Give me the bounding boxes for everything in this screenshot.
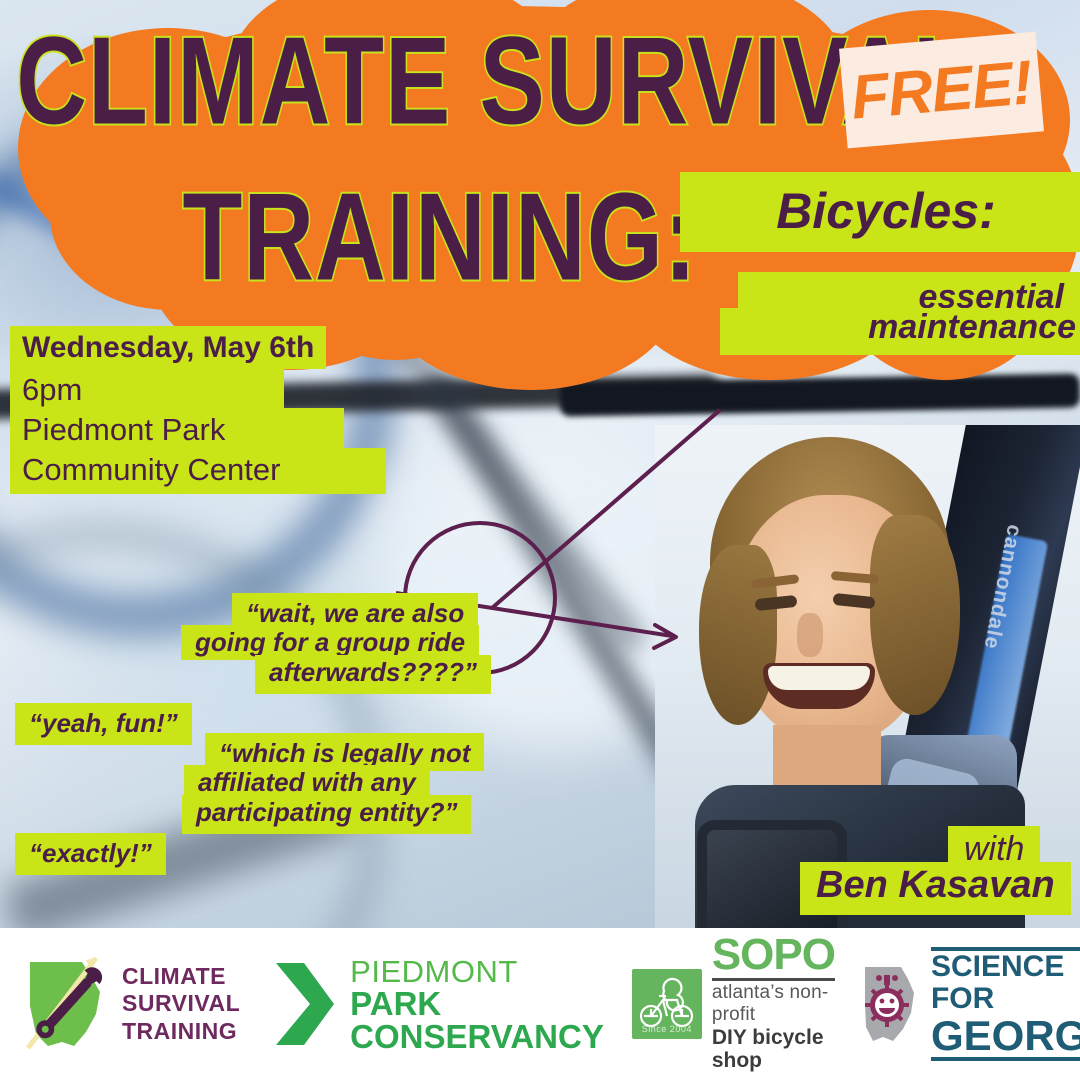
piedmont-word-2: PARK [350, 987, 604, 1020]
event-venue-line-1: Piedmont Park [10, 408, 344, 452]
quote-1-line-3: afterwards????” [255, 655, 491, 694]
logo-science-for-georgia: SCIENCE FOR GEORGIA [861, 947, 1080, 1061]
georgia-flask-gear-icon [861, 963, 923, 1045]
event-venue-line-2: Community Center [10, 448, 386, 494]
topic-title: Bicycles: [680, 172, 1080, 252]
sponsor-logo-bar: CLIMATE SURVIVAL TRAINING PIEDMONT PARK … [0, 928, 1080, 1080]
sopo-tree-bicycle-icon: Since 2004 [632, 969, 702, 1039]
georgia-wrench-icon [22, 956, 114, 1052]
logo-climate-survival-training: CLIMATE SURVIVAL TRAINING [22, 956, 240, 1052]
topic-subtitle-line-2: maintenance [720, 308, 1080, 355]
event-date: Wednesday, May 6th [10, 326, 326, 369]
piedmont-word-3: CONSERVANCY [350, 1020, 604, 1053]
piedmont-word-1: PIEDMONT [350, 956, 604, 987]
sopo-word-2: atlanta’s non-profit [712, 982, 835, 1026]
cst-word-2: SURVIVAL [122, 990, 240, 1018]
logo-sopo-bicycle-shop: Since 2004 SOPO atlanta’s non-profit DIY… [632, 935, 835, 1072]
quote-2-line-1: “yeah, fun!” [15, 703, 192, 745]
free-badge: FREE! [839, 32, 1044, 149]
chevron-icon [274, 961, 336, 1047]
cst-word-3: TRAINING [122, 1018, 240, 1046]
cst-word-1: CLIMATE [122, 963, 240, 991]
sfg-word-2: GEORGIA [931, 1015, 1080, 1057]
sopo-word-3: DIY bicycle shop [712, 1026, 835, 1073]
logo-piedmont-park-conservancy: PIEDMONT PARK CONSERVANCY [274, 956, 604, 1053]
poster-canvas: cannondale [0, 0, 1080, 1080]
event-time: 6pm [10, 368, 284, 412]
sopo-word-1: SOPO [712, 935, 835, 975]
quote-4-line-1: “exactly!” [15, 833, 166, 875]
free-badge-label: FREE! [848, 47, 1034, 134]
quote-3-line-3: participating entity?” [182, 795, 471, 834]
presenter-name: Ben Kasavan [800, 862, 1071, 915]
sfg-word-1: SCIENCE FOR [931, 951, 1080, 1015]
sopo-since-label: Since 2004 [632, 1024, 702, 1034]
